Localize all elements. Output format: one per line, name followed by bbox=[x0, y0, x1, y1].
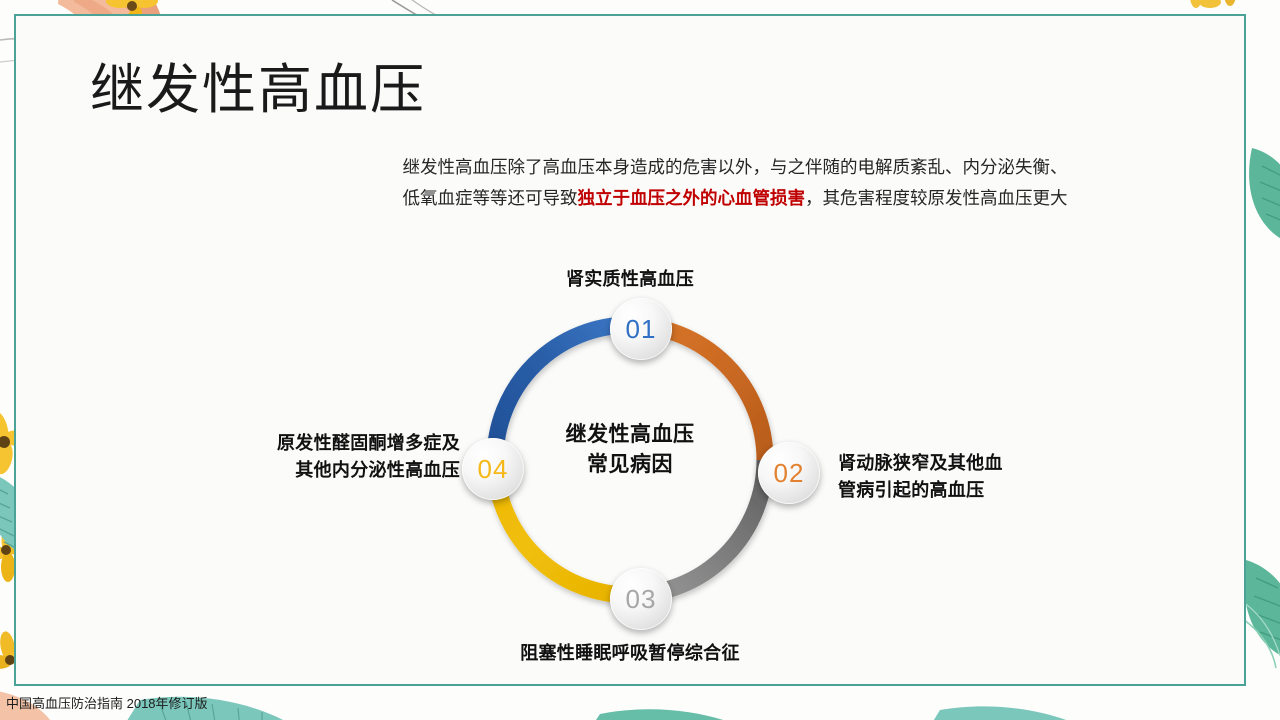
node-label-04-line-1: 原发性醛固酮增多症及 bbox=[160, 430, 460, 457]
node-bubble-01[interactable]: 01 bbox=[610, 298, 672, 360]
node-label-03: 阻塞性睡眠呼吸暂停综合征 bbox=[450, 640, 810, 667]
center-label-line-1: 继发性高血压 bbox=[470, 420, 790, 450]
leaf-bottom bbox=[120, 697, 1096, 720]
node-label-03-line-1: 阻塞性睡眠呼吸暂停综合征 bbox=[450, 640, 810, 667]
subtitle-line-1-text: 继发性高血压除了高血压本身造成的危害以外，与之伴随的电解质紊乱、内分泌失衡、 bbox=[403, 157, 1068, 177]
node-label-01-line-1: 肾实质性高血压 bbox=[480, 266, 780, 293]
node-label-02-line-2: 管病引起的高血压 bbox=[838, 477, 1098, 504]
page-title: 继发性高血压 bbox=[90, 58, 426, 123]
node-bubble-03[interactable]: 03 bbox=[610, 568, 672, 630]
cycle-diagram: 继发性高血压 常见病因 01 02 03 04 bbox=[470, 300, 790, 620]
node-label-04-line-2: 其他内分泌性高血压 bbox=[160, 457, 460, 484]
subtitle-line-2-prefix: 低氧血症等等还可导致 bbox=[403, 188, 578, 208]
subtitle-line-2: 低氧血症等等还可导致独立于血压之外的心血管损害，其危害程度较原发性高血压更大 bbox=[230, 183, 1240, 214]
slide-canvas: 继发性高血压 继发性高血压除了高血压本身造成的危害以外，与之伴随的电解质紊乱、内… bbox=[0, 0, 1280, 720]
subtitle-line-2-suffix: ，其危害程度较原发性高血压更大 bbox=[805, 188, 1068, 208]
node-label-01: 肾实质性高血压 bbox=[480, 266, 780, 293]
subtitle-line-1: 继发性高血压除了高血压本身造成的危害以外，与之伴随的电解质紊乱、内分泌失衡、 bbox=[230, 152, 1240, 183]
node-label-02-line-1: 肾动脉狭窄及其他血 bbox=[838, 450, 1098, 477]
node-bubble-04[interactable]: 04 bbox=[462, 438, 524, 500]
footer-source: 中国高血压防治指南 2018年修订版 bbox=[6, 693, 208, 712]
subtitle-paragraph: 继发性高血压除了高血压本身造成的危害以外，与之伴随的电解质紊乱、内分泌失衡、 低… bbox=[230, 152, 1240, 214]
petal-cluster-top-right bbox=[1190, 0, 1236, 8]
node-label-02: 肾动脉狭窄及其他血 管病引起的高血压 bbox=[838, 450, 1098, 504]
node-label-04: 原发性醛固酮增多症及 其他内分泌性高血压 bbox=[160, 430, 460, 484]
subtitle-highlight: 独立于血压之外的心血管损害 bbox=[578, 188, 806, 208]
node-bubble-02[interactable]: 02 bbox=[758, 442, 820, 504]
